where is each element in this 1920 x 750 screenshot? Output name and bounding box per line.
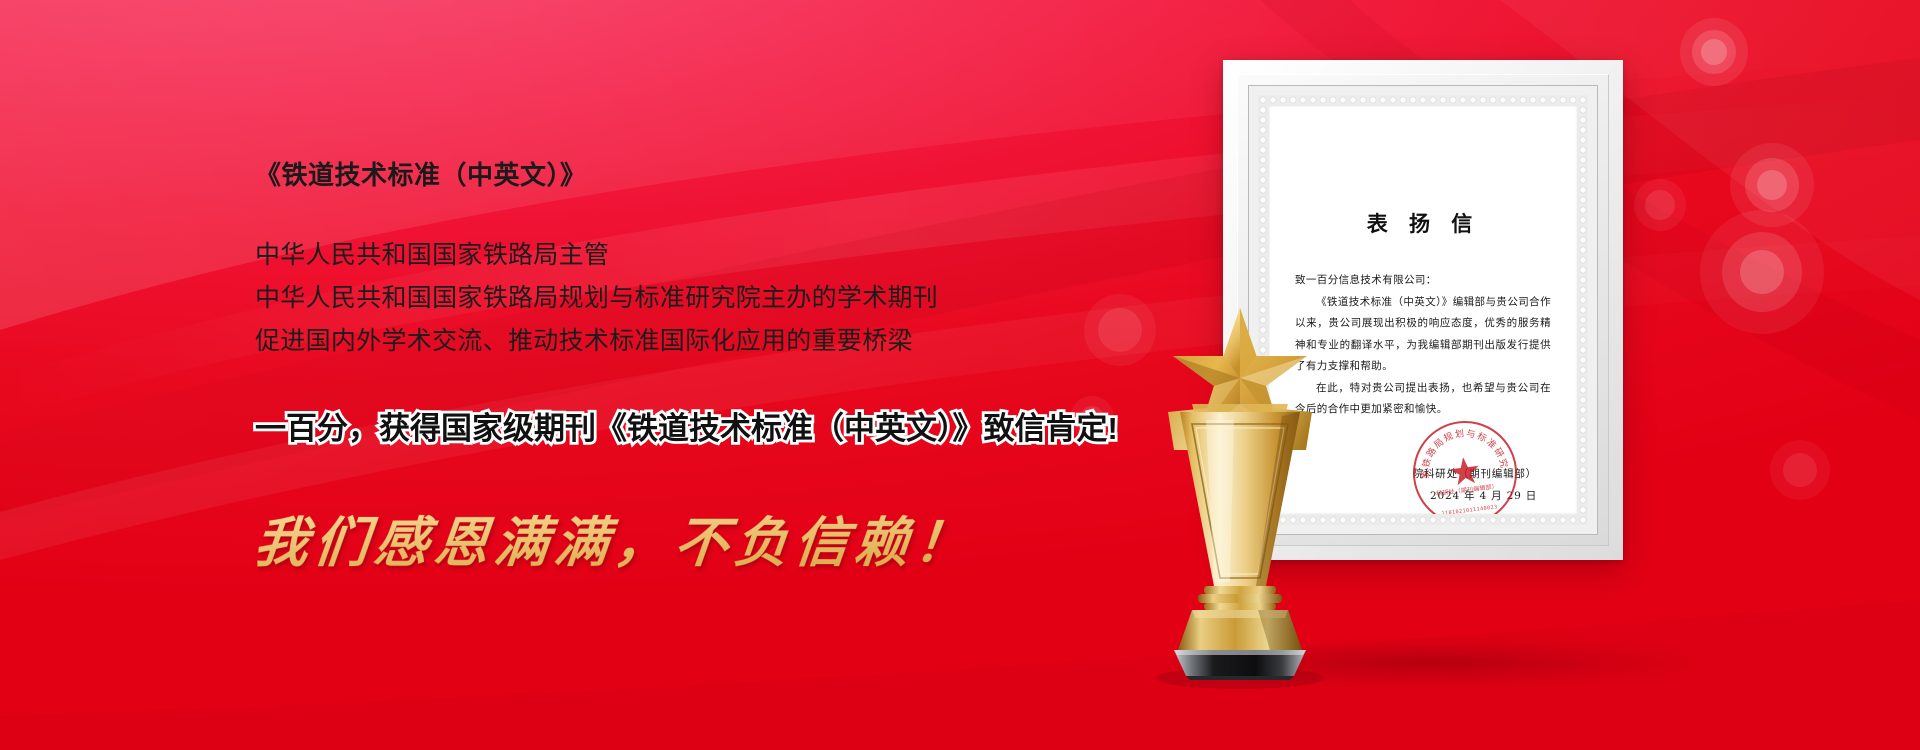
certificate-title: 表 扬 信: [1295, 208, 1551, 238]
journal-title: 《铁道技术标准（中英文）》: [255, 160, 1155, 191]
gold-star-trophy: [1130, 300, 1350, 690]
promotional-banner: 《铁道技术标准（中英文）》 中华人民共和国国家铁路局主管 中华人民共和国国家铁路…: [0, 0, 1920, 750]
journal-description-list: 中华人民共和国国家铁路局主管 中华人民共和国国家铁路局规划与标准研究院主办的学术…: [255, 234, 1155, 363]
award-headline: 一百分，获得国家级期刊《铁道技术标准（中英文）》致信肯定!: [255, 403, 1155, 448]
description-line-3: 促进国内外学术交流、推动技术标准国际化应用的重要桥梁: [255, 320, 1155, 363]
gratitude-calligraphy: 我们感恩满满，不负信赖！: [251, 498, 1159, 577]
description-line-1: 中华人民共和国国家铁路局主管: [255, 234, 1155, 277]
certificate-salutation: 致一百分信息技术有限公司：: [1295, 270, 1551, 292]
banner-text-block: 《铁道技术标准（中英文）》 中华人民共和国国家铁路局主管 中华人民共和国国家铁路…: [255, 160, 1155, 577]
description-line-2: 中华人民共和国国家铁路局规划与标准研究院主办的学术期刊: [255, 277, 1155, 320]
trophy-graphic: [1130, 300, 1350, 690]
official-red-seal-stamp: 国家铁路局规划与标准研究院 科研处（期刊编辑部） 110102101114002…: [1407, 415, 1523, 514]
